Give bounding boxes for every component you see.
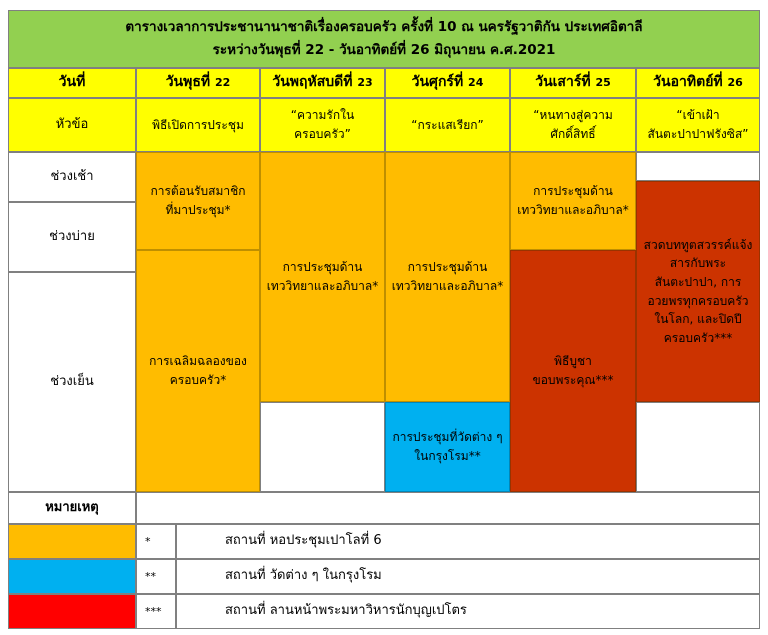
topic-saturday-line1: “หนทางสู่ความ — [533, 106, 613, 125]
topic-sunday-line2: สันตะปาปาฟรังซิส” — [648, 125, 749, 144]
day-name-sat: วันเสาร์ที่ — [535, 72, 590, 94]
topic-thursday: “ความรักใน ครอบครัว” — [260, 98, 385, 152]
session-sun-main-text: สวดบททูตสวรรค์แจ้งสารกับพระสันตะปาปา, กา… — [641, 236, 755, 348]
column-header-wednesday: วันพุธที่ 22 — [136, 68, 260, 98]
session-fri-main-text: การประชุมด้านเทววิทยาและอภิบาล* — [390, 258, 505, 295]
session-fri-evening: การประชุมที่วัดต่าง ๆ ในกรุงโรม** — [385, 402, 510, 492]
topic-saturday: “หนทางสู่ความ ศักดิ์สิทธิ์ — [510, 98, 636, 152]
topic-wednesday: พิธีเปิดการประชุม — [136, 98, 260, 152]
legend-swatch-red — [8, 594, 136, 629]
row-header-topic-label: หัวข้อ — [56, 115, 89, 135]
row-header-afternoon: ช่วงบ่าย — [8, 202, 136, 272]
session-sun-main: สวดบททูตสวรรค์แจ้งสารกับพระสันตะปาปา, กา… — [636, 181, 760, 402]
topic-saturday-line2: ศักดิ์สิทธิ์ — [550, 125, 595, 144]
legend-swatch-blue — [8, 559, 136, 594]
legend-text-blue: สถานที่ วัดต่าง ๆ ในกรุงโรม — [176, 559, 760, 594]
legend-mark-red-text: *** — [145, 603, 162, 620]
row-header-topic: หัวข้อ — [8, 98, 136, 152]
legend-mark-orange-text: * — [145, 533, 151, 550]
session-sat-evening-text: พิธีบูชาขอบพระคุณ*** — [515, 352, 631, 389]
day-num-wed: 22 — [215, 74, 230, 91]
session-thu-evening-empty — [260, 402, 385, 492]
legend-text-blue-value: สถานที่ วัดต่าง ๆ ในกรุงโรม — [225, 566, 382, 586]
session-thu-main-text: การประชุมด้านเทววิทยาและอภิบาล* — [265, 258, 380, 295]
legend-mark-blue-text: ** — [145, 568, 156, 585]
row-header-afternoon-label: ช่วงบ่าย — [49, 227, 95, 247]
row-header-morning-label: ช่วงเช้า — [50, 167, 93, 187]
schedule-sheet: ตารางเวลาการประชานานาชาติเรื่องครอบครัว … — [0, 0, 768, 635]
column-header-saturday: วันเสาร์ที่ 25 — [510, 68, 636, 98]
session-sun-top-empty — [636, 152, 760, 181]
day-name-sun: วันอาทิตย์ที่ — [653, 72, 722, 94]
topic-thursday-line2: ครอบครัว” — [294, 125, 351, 144]
topic-sunday: “เข้าเฝ้า สันตะปาปาฟรังซิส” — [636, 98, 760, 152]
topic-thursday-line1: “ความรักใน — [291, 106, 354, 125]
column-header-date-label: วันที่ — [59, 72, 86, 94]
row-header-morning: ช่วงเช้า — [8, 152, 136, 202]
legend-text-red-value: สถานที่ ลานหน้าพระมหาวิหารนักบุญเปโตร — [225, 601, 467, 621]
row-header-evening-label: ช่วงเย็น — [50, 372, 93, 392]
notes-header-spacer — [136, 492, 760, 524]
topic-friday-text: “กระแสเรียก” — [411, 116, 484, 135]
column-header-friday: วันศุกร์ที่ 24 — [385, 68, 510, 98]
legend-text-orange-value: สถานที่ หอประชุมเปาโลที่ 6 — [225, 531, 382, 551]
session-wed-morning-text: การต้อนรับสมาชิกที่มาประชุม* — [141, 182, 255, 219]
legend-swatch-orange — [8, 524, 136, 559]
column-header-date: วันที่ — [8, 68, 136, 98]
topic-sunday-line1: “เข้าเฝ้า — [676, 106, 719, 125]
day-name-thu: วันพฤหัสบดีที่ — [272, 72, 352, 94]
session-wed-evening: การเฉลิมฉลองของครอบครัว* — [136, 250, 260, 492]
session-sat-evening: พิธีบูชาขอบพระคุณ*** — [510, 250, 636, 492]
legend-text-orange: สถานที่ หอประชุมเปาโลที่ 6 — [176, 524, 760, 559]
day-num-sat: 25 — [595, 74, 610, 91]
day-name-fri: วันศุกร์ที่ — [412, 72, 464, 94]
legend-mark-blue: ** — [136, 559, 176, 594]
topic-wednesday-text: พิธีเปิดการประชุม — [152, 116, 244, 135]
legend-mark-orange: * — [136, 524, 176, 559]
session-sat-morning: การประชุมด้านเทววิทยาและอภิบาล* — [510, 152, 636, 250]
row-header-notes: หมายเหตุ — [8, 492, 136, 524]
title-line-1: ตารางเวลาการประชานานาชาติเรื่องครอบครัว … — [125, 16, 642, 39]
session-fri-main: การประชุมด้านเทววิทยาและอภิบาล* — [385, 152, 510, 402]
row-header-notes-label: หมายเหตุ — [45, 498, 99, 518]
session-wed-evening-text: การเฉลิมฉลองของครอบครัว* — [141, 352, 255, 389]
session-fri-evening-text: การประชุมที่วัดต่าง ๆ ในกรุงโรม** — [390, 428, 505, 465]
session-wed-morning: การต้อนรับสมาชิกที่มาประชุม* — [136, 152, 260, 250]
session-sun-bottom-empty — [636, 402, 760, 492]
column-header-thursday: วันพฤหัสบดีที่ 23 — [260, 68, 385, 98]
document-title-banner: ตารางเวลาการประชานานาชาติเรื่องครอบครัว … — [8, 10, 760, 68]
day-name-wed: วันพุธที่ — [166, 72, 210, 94]
legend-mark-red: *** — [136, 594, 176, 629]
day-num-sun: 26 — [728, 74, 743, 91]
session-sat-morning-text: การประชุมด้านเทววิทยาและอภิบาล* — [515, 182, 631, 219]
row-header-evening: ช่วงเย็น — [8, 272, 136, 492]
day-num-thu: 23 — [357, 74, 372, 91]
legend-text-red: สถานที่ ลานหน้าพระมหาวิหารนักบุญเปโตร — [176, 594, 760, 629]
topic-friday: “กระแสเรียก” — [385, 98, 510, 152]
column-header-sunday: วันอาทิตย์ที่ 26 — [636, 68, 760, 98]
day-num-fri: 24 — [468, 74, 483, 91]
title-line-2: ระหว่างวันพุธที่ 22 - วันอาทิตย์ที่ 26 ม… — [213, 39, 556, 62]
session-thu-main: การประชุมด้านเทววิทยาและอภิบาล* — [260, 152, 385, 402]
